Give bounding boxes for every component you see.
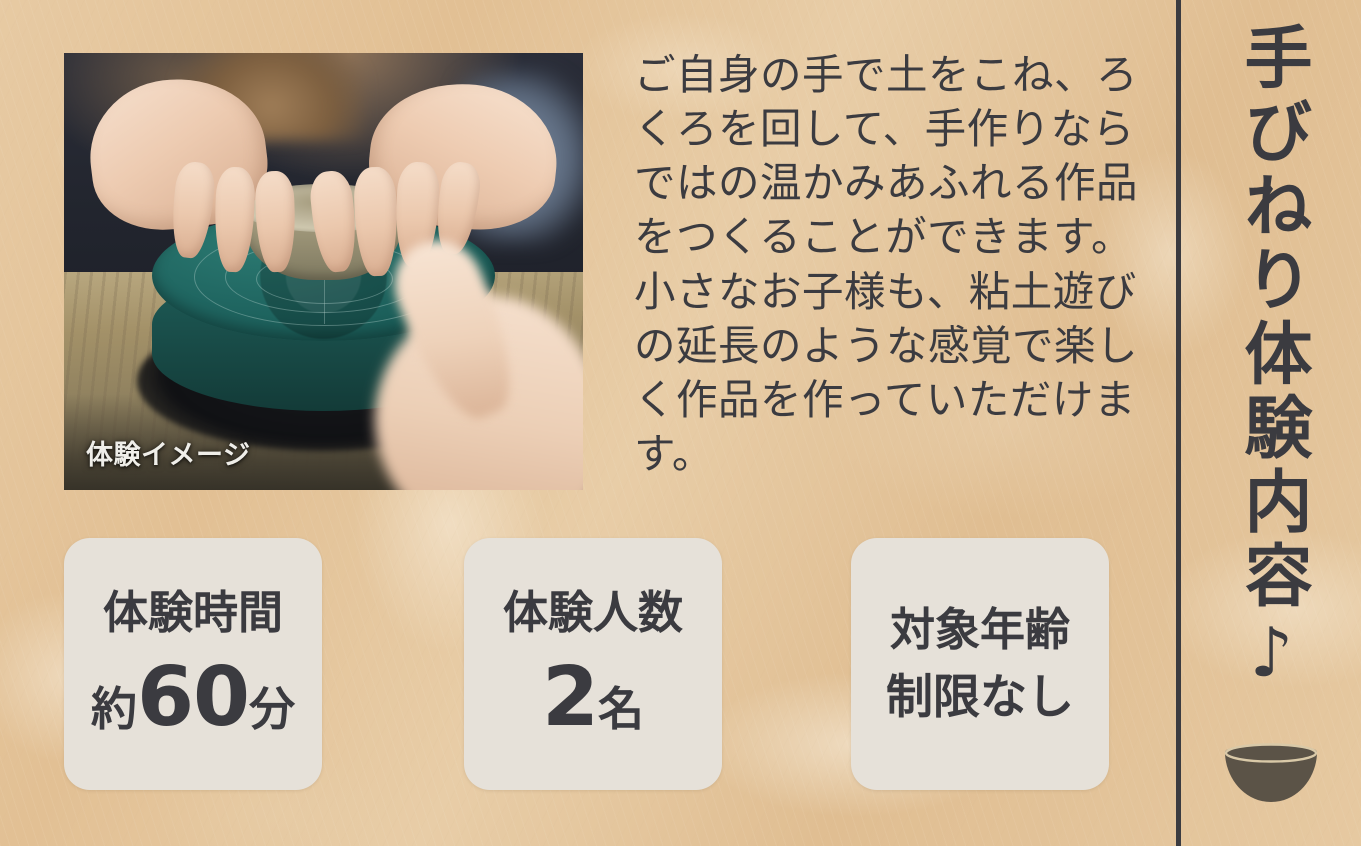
info-card-capacity-value: 2 名: [542, 657, 644, 739]
page-title: 手びねり体験内容♪: [1237, 22, 1305, 712]
info-card-capacity: 体験人数 2 名: [464, 538, 722, 790]
right-title-column: 手びねり体験内容♪: [1181, 0, 1361, 846]
info-card-capacity-label: 体験人数: [503, 590, 683, 635]
photo-caption: 体験イメージ: [86, 433, 250, 472]
experience-photo: 体験イメージ: [64, 53, 583, 490]
left-content-column: 体験イメージ ご自身の手で土をこね、ろくろを回して、手作りならではの温かみあふれ…: [0, 0, 1176, 846]
info-card-duration-value: 約 60 分: [91, 657, 295, 739]
info-card-age-label: 対象年齢: [890, 607, 1070, 652]
description-block: ご自身の手で土をこね、ろくろを回して、手作りならではの温かみあふれる作品をつくる…: [634, 48, 1150, 481]
duration-prefix: 約: [91, 686, 137, 732]
duration-number: 60: [137, 657, 249, 739]
info-card-age-value: 制限なし: [886, 674, 1074, 721]
info-card-row: 体験時間 約 60 分 体験人数 2 名 対象年齢 制限なし: [0, 538, 1176, 792]
photo-illustration: [64, 53, 583, 490]
info-card-duration-label: 体験時間: [103, 590, 283, 635]
poster-canvas: 体験イメージ ご自身の手で土をこね、ろくろを回して、手作りならではの温かみあふれ…: [0, 0, 1361, 846]
capacity-number: 2: [542, 657, 598, 739]
description-paragraph: ご自身の手で土をこね、ろくろを回して、手作りならではの温かみあふれる作品をつくる…: [634, 48, 1150, 481]
duration-suffix: 分: [249, 686, 295, 732]
info-card-duration: 体験時間 約 60 分: [64, 538, 322, 790]
info-card-age: 対象年齢 制限なし: [851, 538, 1109, 790]
capacity-suffix: 名: [598, 686, 644, 732]
bowl-icon: [1223, 742, 1319, 804]
